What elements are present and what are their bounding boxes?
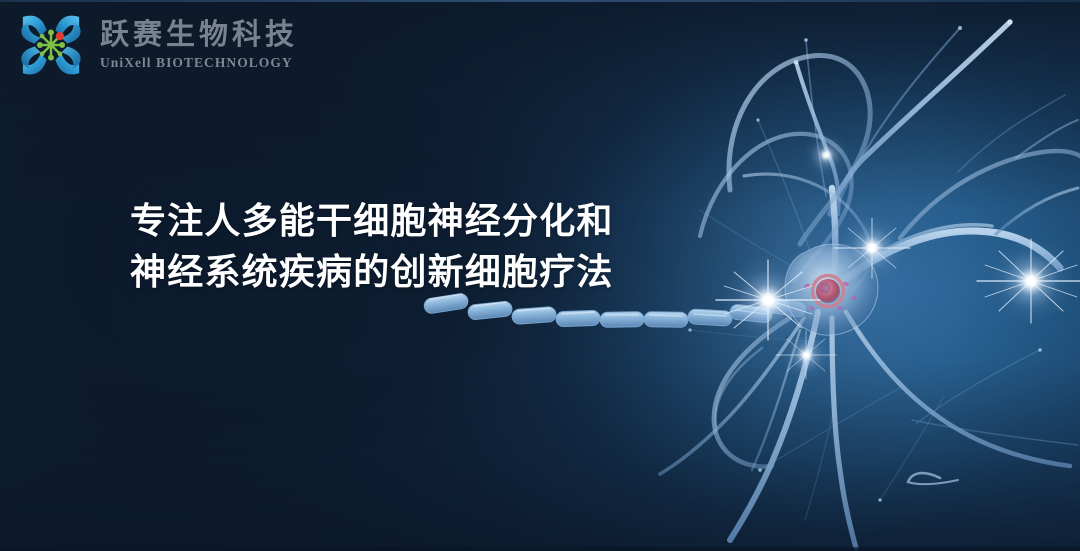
hero-headline: 专注人多能干细胞神经分化和 神经系统疾病的创新细胞疗法	[130, 196, 614, 298]
background-bottom-shade	[0, 361, 1080, 551]
hero-banner: 跃赛生物科技 UniXell BIOTECHNOLOGY 专注人多能干细胞神经分…	[0, 0, 1080, 551]
bottom-edge-line	[0, 547, 1080, 551]
unixell-x-cell-logo-icon	[14, 8, 88, 82]
hero-headline-line-2: 神经系统疾病的创新细胞疗法	[130, 247, 614, 298]
brand-name-en: UniXell BIOTECHNOLOGY	[100, 55, 298, 71]
brand-name-cn: 跃赛生物科技	[100, 19, 298, 50]
brand-wordmark: 跃赛生物科技 UniXell BIOTECHNOLOGY	[100, 19, 298, 70]
brand-logo[interactable]: 跃赛生物科技 UniXell BIOTECHNOLOGY	[14, 8, 298, 82]
top-edge-line	[0, 0, 1080, 2]
hero-headline-line-1: 专注人多能干细胞神经分化和	[130, 196, 614, 247]
